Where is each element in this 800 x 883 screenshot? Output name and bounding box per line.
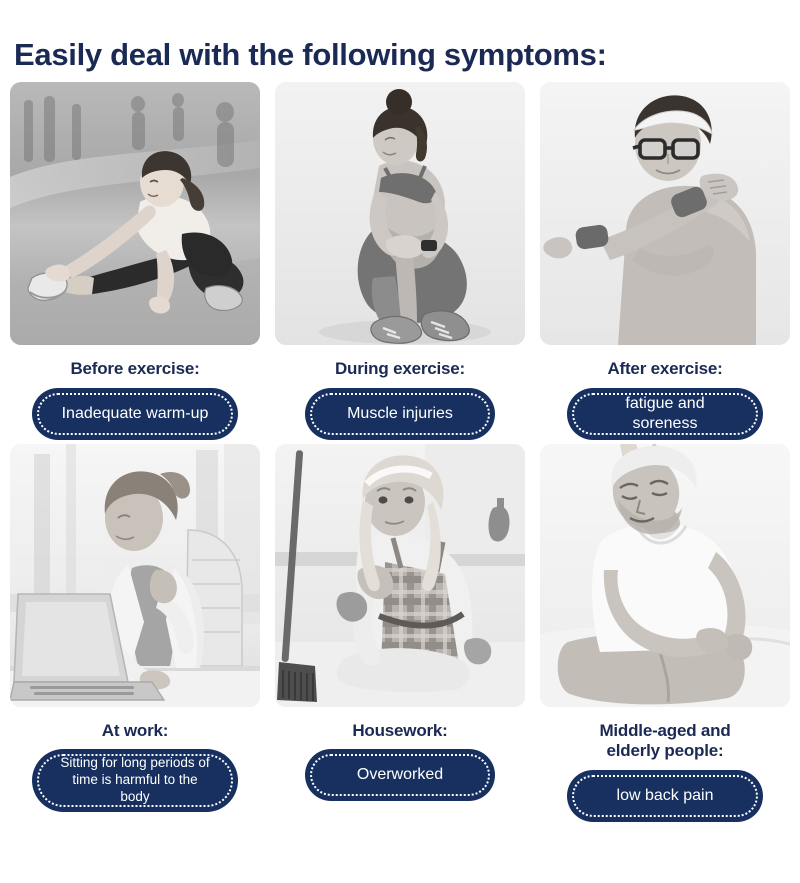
photo-elderly (540, 444, 790, 707)
symptom-pill-muscle-injuries[interactable]: Muscle injuries (305, 388, 495, 440)
pill-wrap-during-exercise: Muscle injuries (275, 388, 525, 440)
photo-before-exercise (10, 82, 260, 345)
symptom-pill-label: low back pain (617, 786, 714, 806)
caption-housework: Housework: (352, 721, 447, 742)
symptom-pill-overworked[interactable]: Overworked (305, 749, 495, 801)
symptom-pill-sitting-long-periods[interactable]: Sitting for long periods of time is harm… (32, 749, 238, 812)
photo-during-exercise (275, 82, 525, 345)
pill-wrap-after-exercise: fatigue and soreness (540, 388, 790, 440)
symptom-grid: Before exercise: Inadequate warm-up (0, 82, 800, 822)
symptom-row-2: At work: Sitting for long periods of tim… (0, 444, 800, 822)
symptom-card-at-work: At work: Sitting for long periods of tim… (10, 444, 260, 822)
symptoms-infographic: Easily deal with the following symptoms: (0, 0, 800, 883)
pill-wrap-housework: Overworked (275, 749, 525, 801)
symptom-card-after-exercise: After exercise: fatigue and soreness (540, 82, 790, 440)
caption-before-exercise: Before exercise: (70, 359, 199, 380)
caption-during-exercise: During exercise: (335, 359, 465, 380)
symptom-card-during-exercise: During exercise: Muscle injuries (275, 82, 525, 440)
symptom-pill-low-back-pain[interactable]: low back pain (567, 770, 763, 822)
page-title: Easily deal with the following symptoms: (14, 38, 786, 72)
symptom-pill-label: fatigue and soreness (591, 394, 739, 434)
symptom-pill-label: Inadequate warm-up (62, 404, 209, 424)
symptom-card-elderly: Middle-aged and elderly people: low back… (540, 444, 790, 822)
symptom-card-before-exercise: Before exercise: Inadequate warm-up (10, 82, 260, 440)
caption-after-exercise: After exercise: (607, 359, 722, 380)
photo-after-exercise (540, 82, 790, 345)
photo-housework (275, 444, 525, 707)
pill-wrap-at-work: Sitting for long periods of time is harm… (10, 749, 260, 812)
symptom-pill-label: Muscle injuries (347, 404, 453, 424)
symptom-pill-label: Sitting for long periods of time is harm… (56, 755, 214, 806)
symptom-pill-fatigue-and-soreness[interactable]: fatigue and soreness (567, 388, 763, 440)
photo-at-work (10, 444, 260, 707)
symptom-card-housework: Housework: Overworked (275, 444, 525, 822)
caption-at-work: At work: (102, 721, 168, 742)
pill-wrap-before-exercise: Inadequate warm-up (10, 388, 260, 440)
caption-elderly: Middle-aged and elderly people: (599, 721, 730, 762)
symptom-pill-inadequate-warm-up[interactable]: Inadequate warm-up (32, 388, 238, 440)
symptom-pill-label: Overworked (357, 765, 443, 785)
pill-wrap-elderly: low back pain (540, 770, 790, 822)
symptom-row-1: Before exercise: Inadequate warm-up (0, 82, 800, 440)
